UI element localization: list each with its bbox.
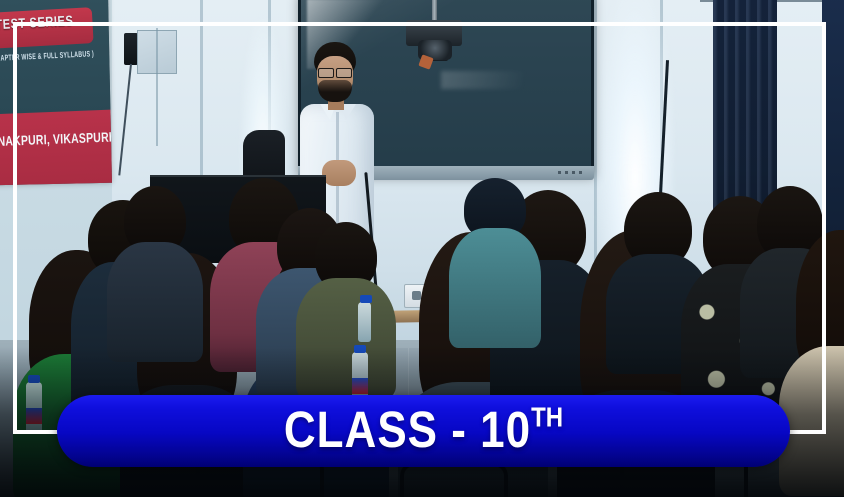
- poster-locations: ANAKPURI, VIKASPURI: [0, 130, 112, 151]
- promo-thumbnail: TEST SERIES ( CHAPTER WISE & FULL SYLLAB…: [0, 0, 844, 497]
- board-speaker-grille: [558, 171, 584, 174]
- poster-headline-tab: TEST SERIES: [0, 7, 94, 49]
- poster-location-band: ANAKPURI, VIKASPURI: [0, 109, 112, 185]
- class-title-banner[interactable]: CLASS - 10TH: [57, 395, 790, 467]
- wall-speaker-icon: [124, 33, 138, 65]
- test-series-poster: TEST SERIES ( CHAPTER WISE & FULL SYLLAB…: [0, 0, 112, 185]
- class-title-text: CLASS - 10TH: [284, 402, 563, 460]
- student-silhouette-turban: [452, 178, 538, 328]
- student-silhouette: [114, 186, 196, 356]
- teacher-hands: [322, 160, 356, 186]
- teacher-beard: [318, 80, 352, 102]
- student-body: [449, 228, 541, 348]
- wall-wire: [156, 28, 158, 146]
- bottle-cap: [360, 295, 372, 303]
- teacher-glasses-icon: [317, 68, 353, 76]
- class-title-main: CLASS - 10: [284, 402, 531, 460]
- board-glare: [441, 71, 561, 89]
- class-title-superscript: TH: [531, 404, 563, 432]
- poster-headline: TEST SERIES: [0, 13, 93, 34]
- water-bottle: [358, 302, 371, 342]
- student-body: [107, 242, 203, 362]
